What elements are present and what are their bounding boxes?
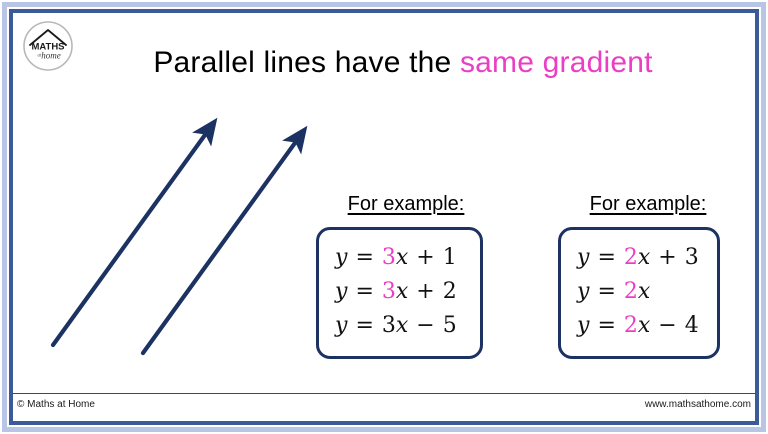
equals-sign: = xyxy=(596,313,616,338)
equation-coefficient: 2 xyxy=(624,313,638,338)
maths-at-home-logo: MATHS at home xyxy=(21,19,75,73)
example-column-2: For example: y = 2x + 3 y = 2x y xyxy=(558,193,738,359)
equation-constant: 3 xyxy=(685,245,699,270)
equation-variable: x xyxy=(638,279,650,304)
title-highlight-text: same gradient xyxy=(460,46,653,79)
equation-row: y = 3x − 5 xyxy=(331,309,468,343)
equation-operator: − xyxy=(415,313,435,338)
equation-constant: 4 xyxy=(685,313,699,338)
equation-constant: 1 xyxy=(443,245,457,270)
example-heading-2: For example: xyxy=(558,193,738,216)
equation-row: y = 3x + 2 xyxy=(331,275,468,309)
slide: MATHS at home Parallel lines have the sa… xyxy=(0,0,768,434)
slide-canvas: MATHS at home Parallel lines have the sa… xyxy=(13,13,755,421)
footer-copyright: © Maths at Home xyxy=(17,399,95,410)
equation-operator: + xyxy=(657,245,677,270)
title-plain-text: Parallel lines have the xyxy=(153,46,460,79)
equation-lhs: y xyxy=(577,313,589,338)
equation-operator: + xyxy=(415,245,435,270)
equals-sign: = xyxy=(354,313,374,338)
equation-box-1: y = 3x + 1 y = 3x + 2 y = 3x − xyxy=(316,227,483,359)
page-title: Parallel lines have the same gradient xyxy=(93,46,713,79)
equation-variable: x xyxy=(638,313,650,338)
footer-website: www.mathsathome.com xyxy=(645,399,751,410)
equation-row: y = 3x + 1 xyxy=(331,241,468,275)
footer: © Maths at Home www.mathsathome.com xyxy=(17,395,751,413)
equation-lhs: y xyxy=(577,279,589,304)
equation-operator: − xyxy=(657,313,677,338)
equation-constant: 2 xyxy=(443,279,457,304)
equals-sign: = xyxy=(354,245,374,270)
equals-sign: = xyxy=(354,279,374,304)
equation-coefficient: 3 xyxy=(382,245,396,270)
equation-row: y = 2x xyxy=(573,275,705,309)
footer-divider xyxy=(13,393,755,394)
logo-text-home: home xyxy=(41,51,61,61)
parallel-arrow-2 xyxy=(143,136,300,353)
equals-sign: = xyxy=(596,279,616,304)
equation-operator: + xyxy=(415,279,435,304)
equation-coefficient: 2 xyxy=(624,245,638,270)
equation-variable: x xyxy=(396,245,408,270)
equation-lhs: y xyxy=(335,245,347,270)
parallel-arrow-1 xyxy=(53,128,210,345)
equation-variable: x xyxy=(396,279,408,304)
parallel-lines-diagram xyxy=(13,98,313,373)
equation-coefficient: 2 xyxy=(624,279,638,304)
equation-variable: x xyxy=(396,313,408,338)
equation-coefficient: 3 xyxy=(382,313,396,338)
equation-row: y = 2x + 3 xyxy=(573,241,705,275)
equation-operator xyxy=(650,279,652,304)
equation-lhs: y xyxy=(335,279,347,304)
equation-row: y = 2x − 4 xyxy=(573,309,705,343)
equation-lhs: y xyxy=(577,245,589,270)
equation-constant: 5 xyxy=(443,313,457,338)
equation-box-2: y = 2x + 3 y = 2x y = 2x − xyxy=(558,227,720,359)
equals-sign: = xyxy=(596,245,616,270)
example-heading-1: For example: xyxy=(316,193,496,216)
equation-variable: x xyxy=(638,245,650,270)
equation-coefficient: 3 xyxy=(382,279,396,304)
equation-lhs: y xyxy=(335,313,347,338)
example-column-1: For example: y = 3x + 1 y = 3x + 2 y xyxy=(316,193,496,359)
